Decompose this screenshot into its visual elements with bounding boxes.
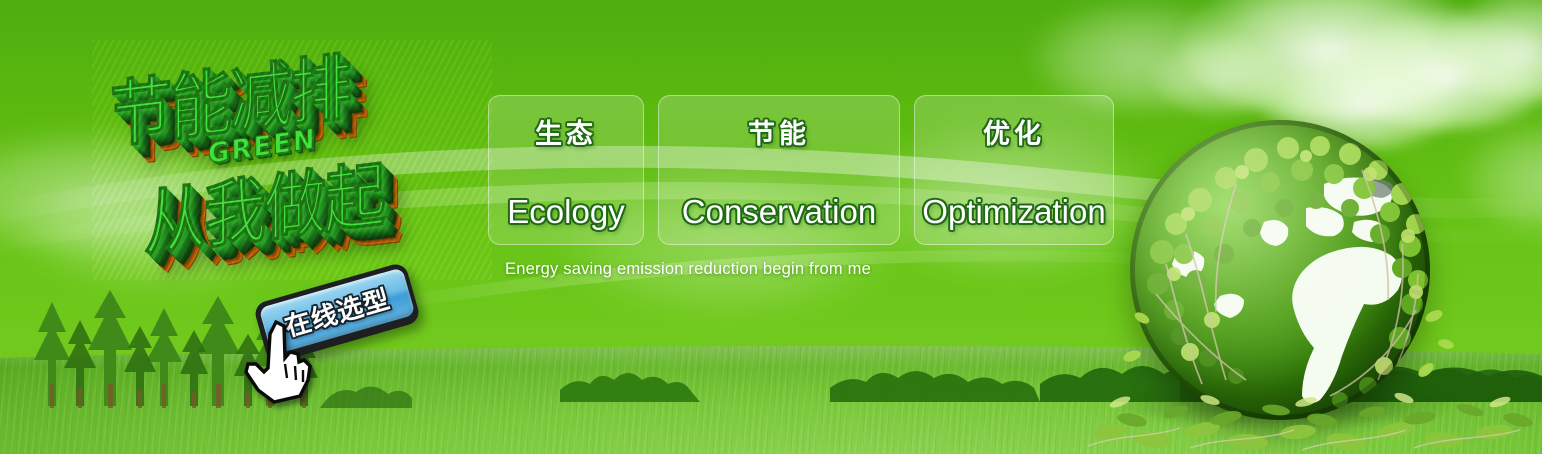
feature-card-conservation[interactable]: 节能 Conservation: [658, 95, 900, 245]
cloud-shape: [1440, 0, 1542, 100]
feature-card-title-cn: 生态: [535, 112, 597, 151]
fallen-leaves: [1080, 376, 1542, 454]
feature-card-title-en: Ecology: [507, 193, 624, 231]
feature-card-title-en: Conservation: [682, 193, 876, 231]
feature-card-title-cn: 优化: [983, 112, 1045, 151]
feature-card-list: 生态 Ecology 节能 Conservation 优化 Optimizati…: [488, 95, 1114, 245]
logo-line-2: 从我做起: [144, 136, 384, 270]
feature-card-title-cn: 节能: [748, 112, 810, 151]
feature-card-title-en: Optimization: [922, 193, 1105, 231]
cloud-shape: [1150, 35, 1290, 115]
feature-card-ecology[interactable]: 生态 Ecology: [488, 95, 644, 245]
headline-3d-logo: 节能减排 GREEN 从我做起: [92, 40, 492, 280]
cloud-shape: [1460, 120, 1542, 230]
cta-area: 在线选型: [258, 276, 428, 386]
cloud-shape: [1030, 0, 1250, 110]
green-energy-banner: 节能减排 GREEN 从我做起 生态 Ecology 节能 Conservati…: [0, 0, 1542, 454]
pointing-hand-cursor-icon: [240, 318, 314, 404]
feature-card-optimization[interactable]: 优化 Optimization: [914, 95, 1114, 245]
cloud-shape: [1180, 0, 1480, 120]
banner-tagline: Energy saving emission reduction begin f…: [505, 260, 871, 279]
